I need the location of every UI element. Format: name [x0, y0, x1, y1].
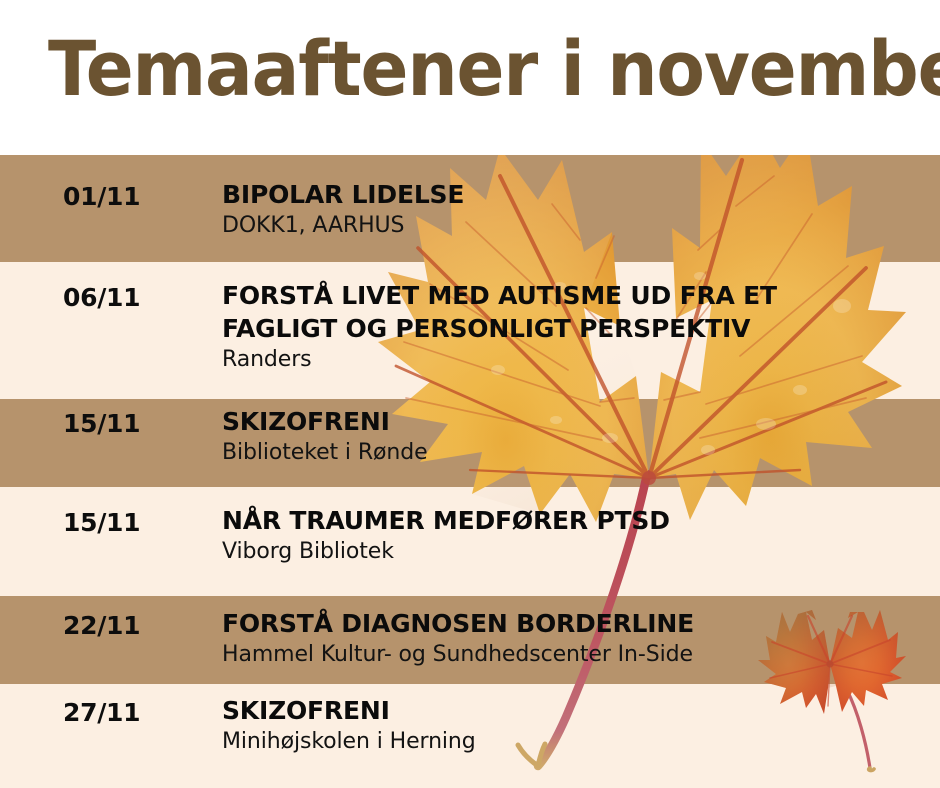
event-venue: Randers — [222, 345, 922, 375]
event-venue: Hammel Kultur- og Sundhedscenter In-Side — [222, 640, 922, 670]
event-venue: DOKK1, AARHUS — [222, 211, 922, 241]
event-date: 15/11 — [63, 508, 140, 538]
poster-canvas: Temaaftener i november 01/11BIPOLAR LIDE… — [0, 0, 940, 788]
event-venue: Minihøjskolen i Herning — [222, 727, 922, 757]
event-title: FORSTÅ DIAGNOSEN BORDERLINE — [222, 607, 922, 640]
event-row[interactable]: 06/11FORSTÅ LIVET MED AUTISME UD FRA ET … — [0, 262, 940, 399]
event-body: NÅR TRAUMER MEDFØRER PTSDViborg Bibliote… — [222, 504, 922, 567]
event-date: 27/11 — [63, 698, 140, 728]
event-row[interactable]: 15/11NÅR TRAUMER MEDFØRER PTSDViborg Bib… — [0, 487, 940, 596]
event-venue: Viborg Bibliotek — [222, 537, 922, 567]
event-body: FORSTÅ LIVET MED AUTISME UD FRA ET FAGLI… — [222, 279, 922, 375]
event-date: 01/11 — [63, 182, 140, 212]
event-row[interactable]: 27/11SKIZOFRENIMinihøjskolen i Herning — [0, 684, 940, 788]
event-body: SKIZOFRENIBiblioteket i Rønde — [222, 405, 922, 468]
event-title: FORSTÅ LIVET MED AUTISME UD FRA ET FAGLI… — [222, 279, 922, 345]
event-title: SKIZOFRENI — [222, 405, 922, 438]
event-body: BIPOLAR LIDELSEDOKK1, AARHUS — [222, 178, 922, 241]
event-title: NÅR TRAUMER MEDFØRER PTSD — [222, 504, 922, 537]
event-title: SKIZOFRENI — [222, 694, 922, 727]
event-date: 22/11 — [63, 611, 140, 641]
event-venue: Biblioteket i Rønde — [222, 438, 922, 468]
event-date: 15/11 — [63, 409, 140, 439]
page-title: Temaaftener i november — [48, 26, 940, 112]
event-row[interactable]: 22/11FORSTÅ DIAGNOSEN BORDERLINEHammel K… — [0, 596, 940, 684]
event-body: SKIZOFRENIMinihøjskolen i Herning — [222, 694, 922, 757]
event-row[interactable]: 15/11SKIZOFRENIBiblioteket i Rønde — [0, 399, 940, 487]
event-body: FORSTÅ DIAGNOSEN BORDERLINEHammel Kultur… — [222, 607, 922, 670]
event-date: 06/11 — [63, 283, 140, 313]
poster-header: Temaaftener i november — [0, 0, 940, 155]
event-row[interactable]: 01/11BIPOLAR LIDELSEDOKK1, AARHUS — [0, 155, 940, 262]
event-title: BIPOLAR LIDELSE — [222, 178, 922, 211]
